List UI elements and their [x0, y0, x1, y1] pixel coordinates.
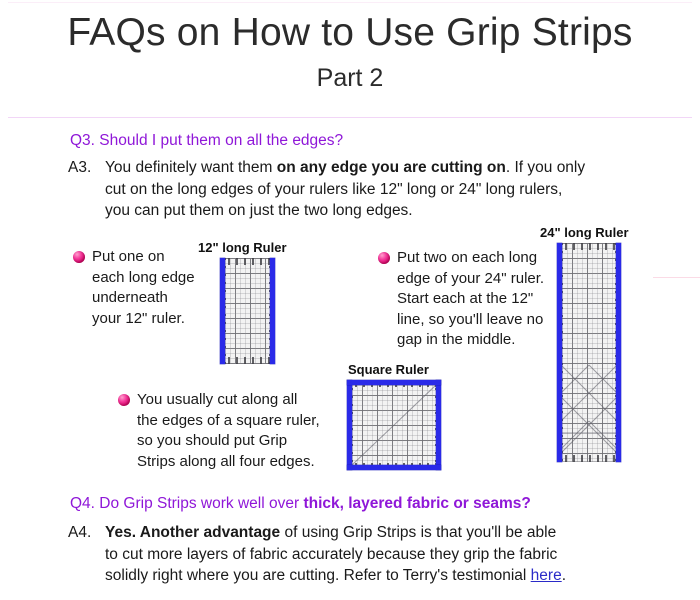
grip-strip-left	[557, 243, 562, 462]
answer-label-a4: A4.	[68, 522, 91, 543]
grip-strip-right	[436, 380, 441, 470]
q4-bold-tail: thick, layered fabric or seams?	[303, 495, 530, 512]
bullet-24-line-3: Start each at the 12"	[397, 289, 544, 310]
ruler-square	[347, 380, 441, 470]
bullet-dot-icon	[73, 251, 85, 263]
bullet-square-line-3: so you should put Grip	[137, 431, 320, 452]
bullet-square-line-1: You usually cut along all	[137, 390, 320, 411]
bullet-24-line-1: Put two on each long	[397, 248, 544, 269]
bullet-12-line-3: underneath	[92, 288, 195, 309]
q4-text: Do Grip Strips work well over	[99, 495, 303, 512]
ruler-12-inch	[220, 258, 275, 364]
ruler-square-grid	[347, 380, 441, 470]
a3-l1-p2: on any edge you are cutting on	[277, 159, 506, 176]
a3-l1-p1: You definitely want them	[105, 159, 277, 176]
question-q3: Q3. Should I put them on all the edges?	[70, 131, 343, 151]
bullet-24-line-5: gap in the middle.	[397, 330, 544, 351]
a4-line-3: solidly right where you are cutting. Ref…	[105, 565, 665, 587]
bullet-square-text: You usually cut along all the edges of a…	[137, 390, 320, 472]
a4-line-2: to cut more layers of fabric accurately …	[105, 544, 665, 566]
page-title: FAQs on How to Use Grip Strips	[0, 10, 700, 56]
bullet-24-line-2: edge of your 24" ruler.	[397, 269, 544, 290]
a3-l1-p3: . If you only	[506, 159, 585, 176]
a4-l1-p2: of using Grip Strips is that you'll be a…	[280, 524, 556, 541]
grip-strip-bottom	[347, 465, 441, 470]
ruler-12-inch-grid	[220, 258, 275, 364]
ruler-24-inch-grid	[557, 243, 621, 462]
question-q4: Q4. Do Grip Strips work well over thick,…	[70, 494, 531, 514]
a4-l3-p1: solidly right where you are cutting. Ref…	[105, 567, 531, 584]
answer-body-a3: You definitely want them on any edge you…	[105, 157, 665, 222]
bullet-24-inch-text: Put two on each long edge of your 24" ru…	[397, 248, 544, 351]
grip-strip-left	[347, 380, 352, 470]
bullet-12-line-4: your 12" ruler.	[92, 309, 195, 330]
ruler-label-square: Square Ruler	[348, 362, 429, 378]
bullet-dot-icon	[118, 394, 130, 406]
grip-strip-right	[616, 243, 621, 462]
bullet-24-line-4: line, so you'll leave no	[397, 310, 544, 331]
ruler-24-inch	[557, 243, 621, 462]
a3-line-2: cut on the long edges of your rulers lik…	[105, 179, 665, 201]
grip-strip-top	[347, 380, 441, 385]
bullet-12-line-2: each long edge	[92, 268, 195, 289]
bullet-square-line-4: Strips along all four edges.	[137, 452, 320, 473]
top-divider	[8, 2, 692, 3]
a4-l3-p3: .	[562, 567, 566, 584]
bullet-square-line-2: the edges of a square ruler,	[137, 411, 320, 432]
right-divider-fragment	[653, 277, 700, 278]
bullet-12-inch-text: Put one on each long edge underneath you…	[92, 247, 195, 329]
grip-strip-left	[220, 258, 225, 364]
ruler-label-12-inch: 12" long Ruler	[198, 240, 287, 256]
q3-text: Should I put them on all the edges?	[99, 132, 343, 149]
faq-page: FAQs on How to Use Grip Strips Part 2 Q3…	[0, 0, 700, 600]
answer-label-a3: A3.	[68, 157, 91, 178]
grip-strip-right	[270, 258, 275, 364]
ruler-label-24-inch: 24" long Ruler	[540, 225, 629, 241]
q3-prefix: Q3.	[70, 132, 95, 149]
header-divider	[8, 117, 692, 118]
bullet-dot-icon	[378, 252, 390, 264]
a4-line-1: Yes. Another advantage of using Grip Str…	[105, 522, 665, 544]
bullet-12-line-1: Put one on	[92, 247, 195, 268]
answer-body-a4: Yes. Another advantage of using Grip Str…	[105, 522, 665, 587]
testimonial-link[interactable]: here	[531, 567, 562, 584]
a4-l1-p1: Yes. Another advantage	[105, 524, 280, 541]
a3-line-3: you can put them on just the two long ed…	[105, 200, 665, 222]
a3-line-1: You definitely want them on any edge you…	[105, 157, 665, 179]
q4-prefix: Q4.	[70, 495, 95, 512]
page-subtitle: Part 2	[0, 63, 700, 93]
